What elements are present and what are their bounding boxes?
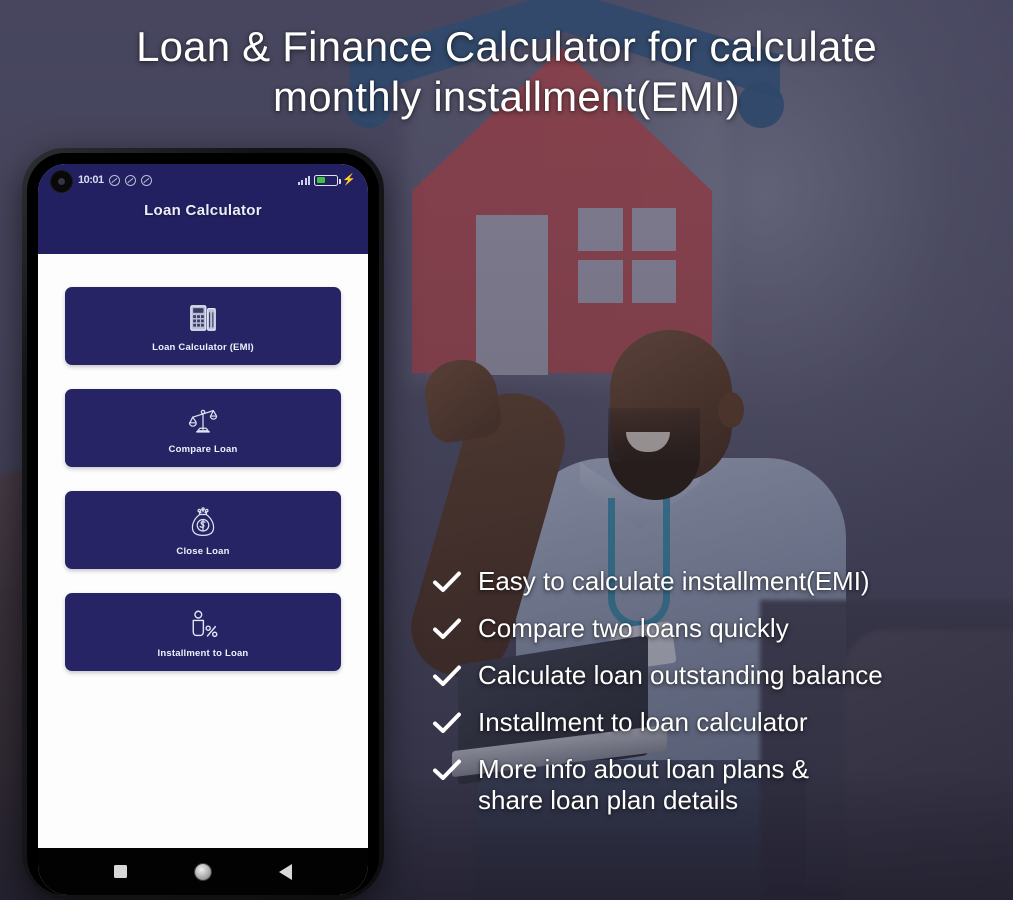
phone-mockup: 10:01 ⚡ Loan Calculator [22,148,384,900]
feature-text: More info about loan plans & share loan … [478,754,809,815]
feature-item: Installment to loan calculator [432,707,1012,740]
battery-charging-icon [314,175,338,186]
feature-text-line1: Calculate loan outstanding balance [478,660,883,690]
feature-text-line1: More info about loan plans & [478,754,809,784]
feature-list: Easy to calculate installment(EMI) Compa… [432,566,1012,815]
feature-text: Compare two loans quickly [478,613,789,644]
menu-button-label: Compare Loan [169,444,238,455]
scales-icon [186,402,220,438]
feature-text-line2: share loan plan details [478,785,809,816]
person-percent-icon [187,606,219,642]
menu-button-label: Installment to Loan [158,648,249,659]
status-bar: 10:01 ⚡ [38,164,368,196]
feature-item: Compare two loans quickly [432,613,1012,646]
phone-screen: 10:01 ⚡ Loan Calculator [38,164,368,895]
feature-text: Installment to loan calculator [478,707,808,738]
signal-bars-icon [298,175,311,185]
calculator-icon [188,300,218,336]
menu-button-label: Close Loan [176,546,229,557]
feature-text-line1: Compare two loans quickly [478,613,789,643]
check-icon [432,664,462,693]
check-icon [432,758,462,787]
triangle-back-icon[interactable] [279,864,292,880]
page-title: Loan & Finance Calculator for calculate … [0,22,1013,121]
menu-button-compare-loan[interactable]: Compare Loan [65,389,341,467]
feature-text: Easy to calculate installment(EMI) [478,566,870,597]
punch-hole-camera-icon [50,170,73,193]
status-bar-right: ⚡ [298,175,356,186]
check-icon [432,617,462,646]
money-bag-icon [189,504,217,540]
menu-button-close-loan[interactable]: Close Loan [65,491,341,569]
app-content: Loan Calculator (EMI) [38,254,368,848]
app-bar: Loan Calculator [38,196,368,254]
page-title-line1: Loan & Finance Calculator for calculate [136,23,877,70]
check-icon [432,570,462,599]
menu-button-loan-calculator[interactable]: Loan Calculator (EMI) [65,287,341,365]
dnd-icon [141,175,152,186]
feature-item: More info about loan plans & share loan … [432,754,1012,815]
feature-text: Calculate loan outstanding balance [478,660,883,691]
android-navigation-bar [38,848,368,895]
feature-text-line1: Easy to calculate installment(EMI) [478,566,870,596]
menu-button-installment-to-loan[interactable]: Installment to Loan [65,593,341,671]
circle-home-icon[interactable] [195,864,211,880]
feature-text-line1: Installment to loan calculator [478,707,808,737]
alarm-icon [125,175,136,186]
status-time: 10:01 [78,174,104,186]
status-bar-left: 10:01 [78,174,152,186]
page-title-line2: monthly installment(EMI) [0,72,1013,122]
feature-item: Easy to calculate installment(EMI) [432,566,1012,599]
feature-item: Calculate loan outstanding balance [432,660,1012,693]
menu-button-label: Loan Calculator (EMI) [152,342,254,353]
check-icon [432,711,462,740]
app-bar-title: Loan Calculator [144,202,262,219]
charging-bolt-icon: ⚡ [342,175,356,186]
no-sound-icon [109,175,120,186]
square-recents-icon[interactable] [114,865,127,878]
